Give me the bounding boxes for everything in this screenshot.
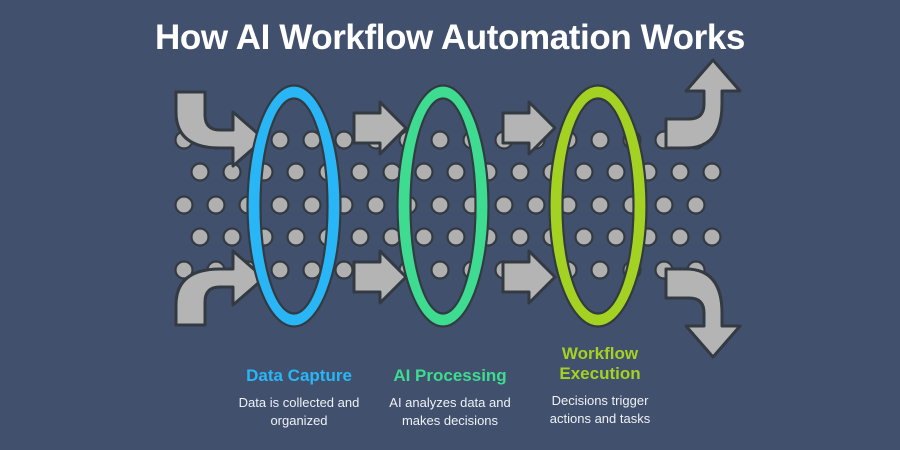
data-dot	[272, 132, 289, 149]
stage-description-line1: Decisions trigger	[500, 392, 700, 410]
data-dot	[272, 197, 289, 214]
data-dot	[592, 262, 609, 279]
stage-description-workflow-execution: Decisions trigger actions and tasks	[500, 392, 700, 428]
data-dot	[416, 164, 433, 181]
data-dot	[656, 197, 673, 214]
data-dot	[304, 197, 321, 214]
data-dot	[336, 132, 353, 149]
stage-title-workflow-execution: Workflow Execution	[500, 344, 700, 384]
data-dot	[432, 197, 449, 214]
data-dot	[512, 164, 529, 181]
flow-arrow-1-bottom	[354, 251, 406, 303]
data-dot	[608, 229, 625, 246]
data-dot	[288, 164, 305, 181]
flow-arrow-2-bottom	[503, 251, 555, 303]
outflow-top-arrow	[666, 60, 740, 148]
data-dot	[192, 164, 209, 181]
stage-title-line2: Execution	[500, 364, 700, 384]
filter-ring-data-capture	[254, 92, 334, 320]
data-dot	[704, 229, 721, 246]
data-dot	[672, 164, 689, 181]
data-dot	[496, 197, 513, 214]
stage-caption-workflow-execution: Workflow Execution Decisions trigger act…	[500, 344, 700, 428]
data-dot	[192, 229, 209, 246]
data-dot	[208, 197, 225, 214]
infographic-canvas: How AI Workflow Automation Works Dat	[0, 0, 900, 450]
data-dot	[176, 197, 193, 214]
data-dot	[336, 262, 353, 279]
data-dot	[416, 229, 433, 246]
data-dot	[576, 164, 593, 181]
data-dot	[592, 197, 609, 214]
data-dot	[672, 229, 689, 246]
data-dot	[704, 164, 721, 181]
stage-description-line2: actions and tasks	[500, 410, 700, 428]
data-dot	[224, 229, 241, 246]
stage-title-line1: Workflow	[500, 344, 700, 364]
data-dot	[368, 197, 385, 214]
data-dot	[432, 262, 449, 279]
data-dot	[352, 164, 369, 181]
data-dot	[352, 229, 369, 246]
data-dot	[688, 197, 705, 214]
data-dot	[448, 164, 465, 181]
data-dot	[448, 229, 465, 246]
data-dot	[272, 262, 289, 279]
data-dot	[592, 132, 609, 149]
flow-arrow-1-top	[354, 102, 406, 154]
data-dot	[528, 197, 545, 214]
data-dot	[576, 229, 593, 246]
data-dot	[432, 132, 449, 149]
data-dot	[288, 229, 305, 246]
data-dot	[512, 229, 529, 246]
data-dot	[608, 164, 625, 181]
data-dot	[304, 262, 321, 279]
